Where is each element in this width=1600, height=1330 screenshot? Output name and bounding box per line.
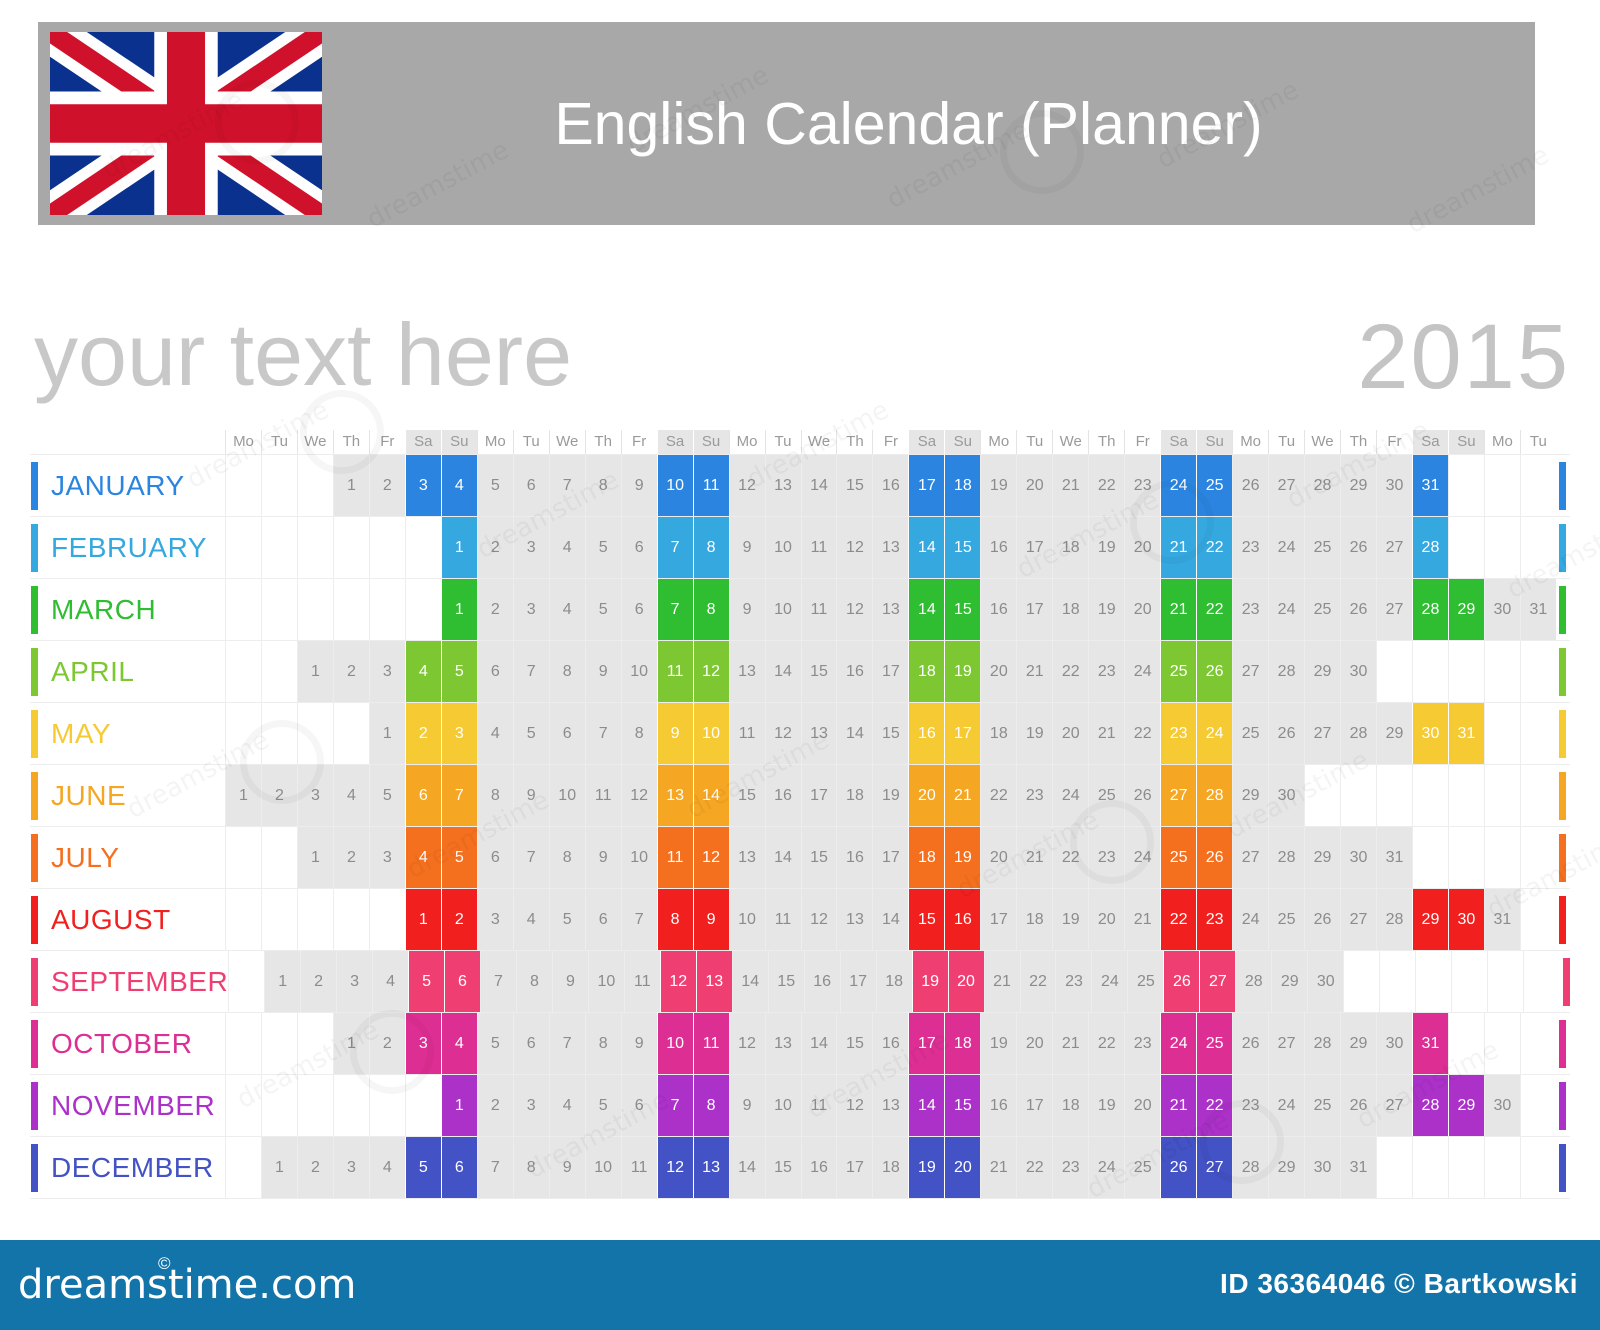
day-cell-march-20[interactable]: 20	[1124, 579, 1160, 640]
day-cell-september-26[interactable]: 26	[1163, 951, 1199, 1012]
day-cell-june-3[interactable]: 3	[297, 765, 333, 826]
day-cell-november-17[interactable]: 17	[1016, 1075, 1052, 1136]
day-cell-march-31[interactable]: 31	[1520, 579, 1556, 640]
day-cell-september-18[interactable]: 18	[876, 951, 912, 1012]
day-cell-april-5[interactable]: 5	[441, 641, 477, 702]
month-label-cell-march[interactable]: MARCH	[30, 579, 225, 640]
day-cell-august-27[interactable]: 27	[1340, 889, 1376, 950]
day-cell-may-21[interactable]: 21	[1088, 703, 1124, 764]
day-cell-november-18[interactable]: 18	[1052, 1075, 1088, 1136]
day-cell-october-1[interactable]: 1	[333, 1013, 369, 1074]
day-cell-february-23[interactable]: 23	[1232, 517, 1268, 578]
day-cell-december-14[interactable]: 14	[729, 1137, 765, 1198]
day-cell-march-26[interactable]: 26	[1340, 579, 1376, 640]
day-cell-january-9[interactable]: 9	[621, 455, 657, 516]
day-cell-june-26[interactable]: 26	[1124, 765, 1160, 826]
month-label-cell-december[interactable]: DECEMBER	[30, 1137, 225, 1198]
day-cell-march-29[interactable]: 29	[1448, 579, 1484, 640]
day-cell-may-13[interactable]: 13	[801, 703, 837, 764]
day-cell-may-6[interactable]: 6	[549, 703, 585, 764]
day-cell-july-1[interactable]: 1	[297, 827, 333, 888]
day-cell-july-31[interactable]: 31	[1376, 827, 1412, 888]
day-cell-november-7[interactable]: 7	[657, 1075, 693, 1136]
day-cell-march-28[interactable]: 28	[1412, 579, 1448, 640]
day-cell-may-5[interactable]: 5	[513, 703, 549, 764]
day-cell-march-19[interactable]: 19	[1088, 579, 1124, 640]
day-cell-july-24[interactable]: 24	[1124, 827, 1160, 888]
day-cell-february-11[interactable]: 11	[801, 517, 837, 578]
day-cell-march-25[interactable]: 25	[1304, 579, 1340, 640]
day-cell-october-15[interactable]: 15	[836, 1013, 872, 1074]
day-cell-december-1[interactable]: 1	[261, 1137, 297, 1198]
month-label-cell-january[interactable]: JANUARY	[30, 455, 225, 516]
day-cell-september-24[interactable]: 24	[1091, 951, 1127, 1012]
day-cell-june-4[interactable]: 4	[333, 765, 369, 826]
day-cell-april-21[interactable]: 21	[1016, 641, 1052, 702]
day-cell-november-16[interactable]: 16	[980, 1075, 1016, 1136]
day-cell-august-16[interactable]: 16	[944, 889, 980, 950]
day-cell-august-24[interactable]: 24	[1232, 889, 1268, 950]
day-cell-october-5[interactable]: 5	[477, 1013, 513, 1074]
day-cell-march-10[interactable]: 10	[765, 579, 801, 640]
day-cell-may-16[interactable]: 16	[908, 703, 944, 764]
day-cell-march-11[interactable]: 11	[801, 579, 837, 640]
day-cell-december-2[interactable]: 2	[297, 1137, 333, 1198]
day-cell-june-13[interactable]: 13	[657, 765, 693, 826]
day-cell-march-9[interactable]: 9	[729, 579, 765, 640]
day-cell-february-25[interactable]: 25	[1304, 517, 1340, 578]
day-cell-march-15[interactable]: 15	[944, 579, 980, 640]
day-cell-july-28[interactable]: 28	[1268, 827, 1304, 888]
day-cell-august-23[interactable]: 23	[1196, 889, 1232, 950]
day-cell-august-30[interactable]: 30	[1448, 889, 1484, 950]
day-cell-january-7[interactable]: 7	[549, 455, 585, 516]
day-cell-july-16[interactable]: 16	[836, 827, 872, 888]
day-cell-february-2[interactable]: 2	[477, 517, 513, 578]
day-cell-october-27[interactable]: 27	[1268, 1013, 1304, 1074]
day-cell-april-8[interactable]: 8	[549, 641, 585, 702]
day-cell-march-12[interactable]: 12	[836, 579, 872, 640]
day-cell-july-11[interactable]: 11	[657, 827, 693, 888]
day-cell-november-14[interactable]: 14	[908, 1075, 944, 1136]
day-cell-july-5[interactable]: 5	[441, 827, 477, 888]
day-cell-february-5[interactable]: 5	[585, 517, 621, 578]
day-cell-june-2[interactable]: 2	[261, 765, 297, 826]
day-cell-april-28[interactable]: 28	[1268, 641, 1304, 702]
day-cell-november-19[interactable]: 19	[1088, 1075, 1124, 1136]
day-cell-february-13[interactable]: 13	[872, 517, 908, 578]
day-cell-may-12[interactable]: 12	[765, 703, 801, 764]
day-cell-january-2[interactable]: 2	[369, 455, 405, 516]
day-cell-august-1[interactable]: 1	[405, 889, 441, 950]
day-cell-may-17[interactable]: 17	[944, 703, 980, 764]
day-cell-march-21[interactable]: 21	[1160, 579, 1196, 640]
day-cell-may-3[interactable]: 3	[441, 703, 477, 764]
day-cell-august-29[interactable]: 29	[1412, 889, 1448, 950]
day-cell-july-23[interactable]: 23	[1088, 827, 1124, 888]
day-cell-april-9[interactable]: 9	[585, 641, 621, 702]
day-cell-april-25[interactable]: 25	[1160, 641, 1196, 702]
day-cell-june-22[interactable]: 22	[980, 765, 1016, 826]
day-cell-november-22[interactable]: 22	[1196, 1075, 1232, 1136]
day-cell-december-24[interactable]: 24	[1088, 1137, 1124, 1198]
day-cell-september-16[interactable]: 16	[804, 951, 840, 1012]
day-cell-october-7[interactable]: 7	[549, 1013, 585, 1074]
day-cell-august-14[interactable]: 14	[872, 889, 908, 950]
day-cell-october-13[interactable]: 13	[765, 1013, 801, 1074]
day-cell-february-24[interactable]: 24	[1268, 517, 1304, 578]
day-cell-may-14[interactable]: 14	[836, 703, 872, 764]
day-cell-may-27[interactable]: 27	[1304, 703, 1340, 764]
day-cell-june-23[interactable]: 23	[1016, 765, 1052, 826]
day-cell-june-20[interactable]: 20	[908, 765, 944, 826]
day-cell-november-4[interactable]: 4	[549, 1075, 585, 1136]
day-cell-may-15[interactable]: 15	[872, 703, 908, 764]
day-cell-december-5[interactable]: 5	[405, 1137, 441, 1198]
day-cell-march-27[interactable]: 27	[1376, 579, 1412, 640]
day-cell-march-22[interactable]: 22	[1196, 579, 1232, 640]
day-cell-september-22[interactable]: 22	[1020, 951, 1056, 1012]
day-cell-april-16[interactable]: 16	[836, 641, 872, 702]
month-label-cell-october[interactable]: OCTOBER	[30, 1013, 225, 1074]
day-cell-july-12[interactable]: 12	[693, 827, 729, 888]
day-cell-november-29[interactable]: 29	[1448, 1075, 1484, 1136]
day-cell-april-2[interactable]: 2	[333, 641, 369, 702]
day-cell-june-19[interactable]: 19	[872, 765, 908, 826]
month-label-cell-may[interactable]: MAY	[30, 703, 225, 764]
month-label-cell-september[interactable]: SEPTEMBER	[30, 951, 228, 1012]
day-cell-september-23[interactable]: 23	[1055, 951, 1091, 1012]
day-cell-july-22[interactable]: 22	[1052, 827, 1088, 888]
day-cell-september-14[interactable]: 14	[732, 951, 768, 1012]
day-cell-april-23[interactable]: 23	[1088, 641, 1124, 702]
day-cell-december-10[interactable]: 10	[585, 1137, 621, 1198]
day-cell-october-26[interactable]: 26	[1232, 1013, 1268, 1074]
day-cell-july-13[interactable]: 13	[729, 827, 765, 888]
day-cell-november-8[interactable]: 8	[693, 1075, 729, 1136]
day-cell-august-6[interactable]: 6	[585, 889, 621, 950]
day-cell-december-30[interactable]: 30	[1304, 1137, 1340, 1198]
day-cell-september-13[interactable]: 13	[696, 951, 732, 1012]
day-cell-october-6[interactable]: 6	[513, 1013, 549, 1074]
day-cell-june-18[interactable]: 18	[836, 765, 872, 826]
day-cell-july-7[interactable]: 7	[513, 827, 549, 888]
day-cell-january-11[interactable]: 11	[693, 455, 729, 516]
day-cell-july-27[interactable]: 27	[1232, 827, 1268, 888]
day-cell-october-24[interactable]: 24	[1160, 1013, 1196, 1074]
day-cell-november-12[interactable]: 12	[836, 1075, 872, 1136]
day-cell-june-5[interactable]: 5	[369, 765, 405, 826]
day-cell-may-29[interactable]: 29	[1376, 703, 1412, 764]
day-cell-march-23[interactable]: 23	[1232, 579, 1268, 640]
day-cell-june-10[interactable]: 10	[549, 765, 585, 826]
day-cell-october-29[interactable]: 29	[1340, 1013, 1376, 1074]
day-cell-june-15[interactable]: 15	[729, 765, 765, 826]
day-cell-september-19[interactable]: 19	[912, 951, 948, 1012]
day-cell-february-6[interactable]: 6	[621, 517, 657, 578]
day-cell-february-22[interactable]: 22	[1196, 517, 1232, 578]
day-cell-march-5[interactable]: 5	[585, 579, 621, 640]
day-cell-december-25[interactable]: 25	[1124, 1137, 1160, 1198]
day-cell-july-3[interactable]: 3	[369, 827, 405, 888]
day-cell-august-19[interactable]: 19	[1052, 889, 1088, 950]
day-cell-january-20[interactable]: 20	[1016, 455, 1052, 516]
day-cell-september-11[interactable]: 11	[624, 951, 660, 1012]
day-cell-september-6[interactable]: 6	[444, 951, 480, 1012]
day-cell-november-28[interactable]: 28	[1412, 1075, 1448, 1136]
day-cell-february-19[interactable]: 19	[1088, 517, 1124, 578]
day-cell-august-8[interactable]: 8	[657, 889, 693, 950]
day-cell-july-26[interactable]: 26	[1196, 827, 1232, 888]
day-cell-october-16[interactable]: 16	[872, 1013, 908, 1074]
day-cell-august-4[interactable]: 4	[513, 889, 549, 950]
day-cell-february-18[interactable]: 18	[1052, 517, 1088, 578]
day-cell-january-21[interactable]: 21	[1052, 455, 1088, 516]
day-cell-july-4[interactable]: 4	[405, 827, 441, 888]
day-cell-march-3[interactable]: 3	[513, 579, 549, 640]
day-cell-april-7[interactable]: 7	[513, 641, 549, 702]
day-cell-february-28[interactable]: 28	[1412, 517, 1448, 578]
day-cell-july-15[interactable]: 15	[801, 827, 837, 888]
day-cell-november-27[interactable]: 27	[1376, 1075, 1412, 1136]
day-cell-september-27[interactable]: 27	[1199, 951, 1235, 1012]
day-cell-april-13[interactable]: 13	[729, 641, 765, 702]
day-cell-december-6[interactable]: 6	[441, 1137, 477, 1198]
day-cell-february-3[interactable]: 3	[513, 517, 549, 578]
day-cell-february-15[interactable]: 15	[944, 517, 980, 578]
day-cell-august-22[interactable]: 22	[1160, 889, 1196, 950]
day-cell-december-9[interactable]: 9	[549, 1137, 585, 1198]
day-cell-june-7[interactable]: 7	[441, 765, 477, 826]
day-cell-september-30[interactable]: 30	[1307, 951, 1343, 1012]
day-cell-february-21[interactable]: 21	[1160, 517, 1196, 578]
day-cell-june-16[interactable]: 16	[765, 765, 801, 826]
day-cell-september-3[interactable]: 3	[336, 951, 372, 1012]
day-cell-july-25[interactable]: 25	[1160, 827, 1196, 888]
day-cell-october-4[interactable]: 4	[441, 1013, 477, 1074]
day-cell-may-22[interactable]: 22	[1124, 703, 1160, 764]
day-cell-october-8[interactable]: 8	[585, 1013, 621, 1074]
day-cell-december-22[interactable]: 22	[1016, 1137, 1052, 1198]
day-cell-june-21[interactable]: 21	[944, 765, 980, 826]
day-cell-january-13[interactable]: 13	[765, 455, 801, 516]
day-cell-december-8[interactable]: 8	[513, 1137, 549, 1198]
day-cell-august-11[interactable]: 11	[765, 889, 801, 950]
day-cell-december-4[interactable]: 4	[369, 1137, 405, 1198]
day-cell-december-15[interactable]: 15	[765, 1137, 801, 1198]
day-cell-november-11[interactable]: 11	[801, 1075, 837, 1136]
day-cell-june-9[interactable]: 9	[513, 765, 549, 826]
day-cell-november-13[interactable]: 13	[872, 1075, 908, 1136]
day-cell-april-24[interactable]: 24	[1124, 641, 1160, 702]
day-cell-april-17[interactable]: 17	[872, 641, 908, 702]
day-cell-june-17[interactable]: 17	[801, 765, 837, 826]
day-cell-september-5[interactable]: 5	[408, 951, 444, 1012]
day-cell-may-28[interactable]: 28	[1340, 703, 1376, 764]
day-cell-december-28[interactable]: 28	[1232, 1137, 1268, 1198]
day-cell-march-6[interactable]: 6	[621, 579, 657, 640]
day-cell-june-27[interactable]: 27	[1160, 765, 1196, 826]
day-cell-june-12[interactable]: 12	[621, 765, 657, 826]
day-cell-may-31[interactable]: 31	[1448, 703, 1484, 764]
day-cell-march-24[interactable]: 24	[1268, 579, 1304, 640]
day-cell-december-16[interactable]: 16	[801, 1137, 837, 1198]
day-cell-august-13[interactable]: 13	[836, 889, 872, 950]
day-cell-november-24[interactable]: 24	[1268, 1075, 1304, 1136]
day-cell-november-21[interactable]: 21	[1160, 1075, 1196, 1136]
day-cell-december-23[interactable]: 23	[1052, 1137, 1088, 1198]
day-cell-november-10[interactable]: 10	[765, 1075, 801, 1136]
day-cell-august-7[interactable]: 7	[621, 889, 657, 950]
day-cell-january-17[interactable]: 17	[908, 455, 944, 516]
day-cell-november-1[interactable]: 1	[441, 1075, 477, 1136]
day-cell-december-20[interactable]: 20	[944, 1137, 980, 1198]
day-cell-september-10[interactable]: 10	[588, 951, 624, 1012]
day-cell-february-17[interactable]: 17	[1016, 517, 1052, 578]
day-cell-may-8[interactable]: 8	[621, 703, 657, 764]
day-cell-may-2[interactable]: 2	[405, 703, 441, 764]
day-cell-march-30[interactable]: 30	[1484, 579, 1520, 640]
day-cell-november-26[interactable]: 26	[1340, 1075, 1376, 1136]
day-cell-february-26[interactable]: 26	[1340, 517, 1376, 578]
day-cell-february-10[interactable]: 10	[765, 517, 801, 578]
day-cell-january-29[interactable]: 29	[1340, 455, 1376, 516]
day-cell-may-23[interactable]: 23	[1160, 703, 1196, 764]
day-cell-august-5[interactable]: 5	[549, 889, 585, 950]
day-cell-january-4[interactable]: 4	[441, 455, 477, 516]
day-cell-july-9[interactable]: 9	[585, 827, 621, 888]
day-cell-june-1[interactable]: 1	[225, 765, 261, 826]
day-cell-july-14[interactable]: 14	[765, 827, 801, 888]
day-cell-june-25[interactable]: 25	[1088, 765, 1124, 826]
day-cell-june-30[interactable]: 30	[1268, 765, 1304, 826]
day-cell-october-20[interactable]: 20	[1016, 1013, 1052, 1074]
day-cell-june-28[interactable]: 28	[1196, 765, 1232, 826]
day-cell-may-11[interactable]: 11	[729, 703, 765, 764]
day-cell-august-20[interactable]: 20	[1088, 889, 1124, 950]
day-cell-may-26[interactable]: 26	[1268, 703, 1304, 764]
day-cell-december-19[interactable]: 19	[908, 1137, 944, 1198]
day-cell-january-3[interactable]: 3	[405, 455, 441, 516]
day-cell-july-18[interactable]: 18	[908, 827, 944, 888]
day-cell-october-23[interactable]: 23	[1124, 1013, 1160, 1074]
day-cell-january-23[interactable]: 23	[1124, 455, 1160, 516]
day-cell-august-25[interactable]: 25	[1268, 889, 1304, 950]
day-cell-april-20[interactable]: 20	[980, 641, 1016, 702]
day-cell-april-27[interactable]: 27	[1232, 641, 1268, 702]
day-cell-january-5[interactable]: 5	[477, 455, 513, 516]
day-cell-march-16[interactable]: 16	[980, 579, 1016, 640]
day-cell-september-2[interactable]: 2	[300, 951, 336, 1012]
day-cell-april-29[interactable]: 29	[1304, 641, 1340, 702]
day-cell-april-19[interactable]: 19	[944, 641, 980, 702]
day-cell-may-19[interactable]: 19	[1016, 703, 1052, 764]
day-cell-october-30[interactable]: 30	[1376, 1013, 1412, 1074]
day-cell-june-6[interactable]: 6	[405, 765, 441, 826]
day-cell-december-18[interactable]: 18	[872, 1137, 908, 1198]
day-cell-april-18[interactable]: 18	[908, 641, 944, 702]
day-cell-may-25[interactable]: 25	[1232, 703, 1268, 764]
day-cell-august-3[interactable]: 3	[477, 889, 513, 950]
day-cell-march-2[interactable]: 2	[477, 579, 513, 640]
day-cell-january-22[interactable]: 22	[1088, 455, 1124, 516]
day-cell-january-12[interactable]: 12	[729, 455, 765, 516]
day-cell-august-9[interactable]: 9	[693, 889, 729, 950]
day-cell-december-29[interactable]: 29	[1268, 1137, 1304, 1198]
day-cell-november-30[interactable]: 30	[1484, 1075, 1520, 1136]
day-cell-july-6[interactable]: 6	[477, 827, 513, 888]
day-cell-october-19[interactable]: 19	[980, 1013, 1016, 1074]
day-cell-may-30[interactable]: 30	[1412, 703, 1448, 764]
day-cell-september-28[interactable]: 28	[1235, 951, 1271, 1012]
day-cell-march-18[interactable]: 18	[1052, 579, 1088, 640]
day-cell-october-11[interactable]: 11	[693, 1013, 729, 1074]
day-cell-november-3[interactable]: 3	[513, 1075, 549, 1136]
day-cell-september-1[interactable]: 1	[264, 951, 300, 1012]
month-label-cell-november[interactable]: NOVEMBER	[30, 1075, 225, 1136]
day-cell-september-21[interactable]: 21	[984, 951, 1020, 1012]
day-cell-july-17[interactable]: 17	[872, 827, 908, 888]
day-cell-february-8[interactable]: 8	[693, 517, 729, 578]
day-cell-december-12[interactable]: 12	[657, 1137, 693, 1198]
day-cell-may-7[interactable]: 7	[585, 703, 621, 764]
day-cell-april-22[interactable]: 22	[1052, 641, 1088, 702]
day-cell-september-17[interactable]: 17	[840, 951, 876, 1012]
day-cell-january-30[interactable]: 30	[1376, 455, 1412, 516]
day-cell-july-21[interactable]: 21	[1016, 827, 1052, 888]
day-cell-june-11[interactable]: 11	[585, 765, 621, 826]
month-label-cell-june[interactable]: JUNE	[30, 765, 225, 826]
day-cell-september-8[interactable]: 8	[516, 951, 552, 1012]
day-cell-october-3[interactable]: 3	[405, 1013, 441, 1074]
day-cell-november-25[interactable]: 25	[1304, 1075, 1340, 1136]
day-cell-march-1[interactable]: 1	[441, 579, 477, 640]
day-cell-january-14[interactable]: 14	[801, 455, 837, 516]
day-cell-december-17[interactable]: 17	[836, 1137, 872, 1198]
day-cell-november-15[interactable]: 15	[944, 1075, 980, 1136]
month-label-cell-april[interactable]: APRIL	[30, 641, 225, 702]
day-cell-april-12[interactable]: 12	[693, 641, 729, 702]
day-cell-january-8[interactable]: 8	[585, 455, 621, 516]
day-cell-october-18[interactable]: 18	[944, 1013, 980, 1074]
day-cell-december-31[interactable]: 31	[1340, 1137, 1376, 1198]
day-cell-august-17[interactable]: 17	[980, 889, 1016, 950]
day-cell-april-30[interactable]: 30	[1340, 641, 1376, 702]
custom-text-placeholder[interactable]: your text here	[34, 300, 572, 410]
day-cell-july-2[interactable]: 2	[333, 827, 369, 888]
day-cell-august-12[interactable]: 12	[801, 889, 837, 950]
day-cell-august-28[interactable]: 28	[1376, 889, 1412, 950]
day-cell-june-29[interactable]: 29	[1232, 765, 1268, 826]
day-cell-january-16[interactable]: 16	[872, 455, 908, 516]
day-cell-february-16[interactable]: 16	[980, 517, 1016, 578]
day-cell-march-8[interactable]: 8	[693, 579, 729, 640]
day-cell-december-27[interactable]: 27	[1196, 1137, 1232, 1198]
day-cell-november-2[interactable]: 2	[477, 1075, 513, 1136]
day-cell-february-14[interactable]: 14	[908, 517, 944, 578]
day-cell-february-20[interactable]: 20	[1124, 517, 1160, 578]
day-cell-january-31[interactable]: 31	[1412, 455, 1448, 516]
day-cell-april-26[interactable]: 26	[1196, 641, 1232, 702]
day-cell-february-4[interactable]: 4	[549, 517, 585, 578]
day-cell-november-20[interactable]: 20	[1124, 1075, 1160, 1136]
day-cell-may-1[interactable]: 1	[369, 703, 405, 764]
day-cell-august-15[interactable]: 15	[908, 889, 944, 950]
day-cell-july-20[interactable]: 20	[980, 827, 1016, 888]
day-cell-october-10[interactable]: 10	[657, 1013, 693, 1074]
day-cell-february-1[interactable]: 1	[441, 517, 477, 578]
day-cell-july-30[interactable]: 30	[1340, 827, 1376, 888]
